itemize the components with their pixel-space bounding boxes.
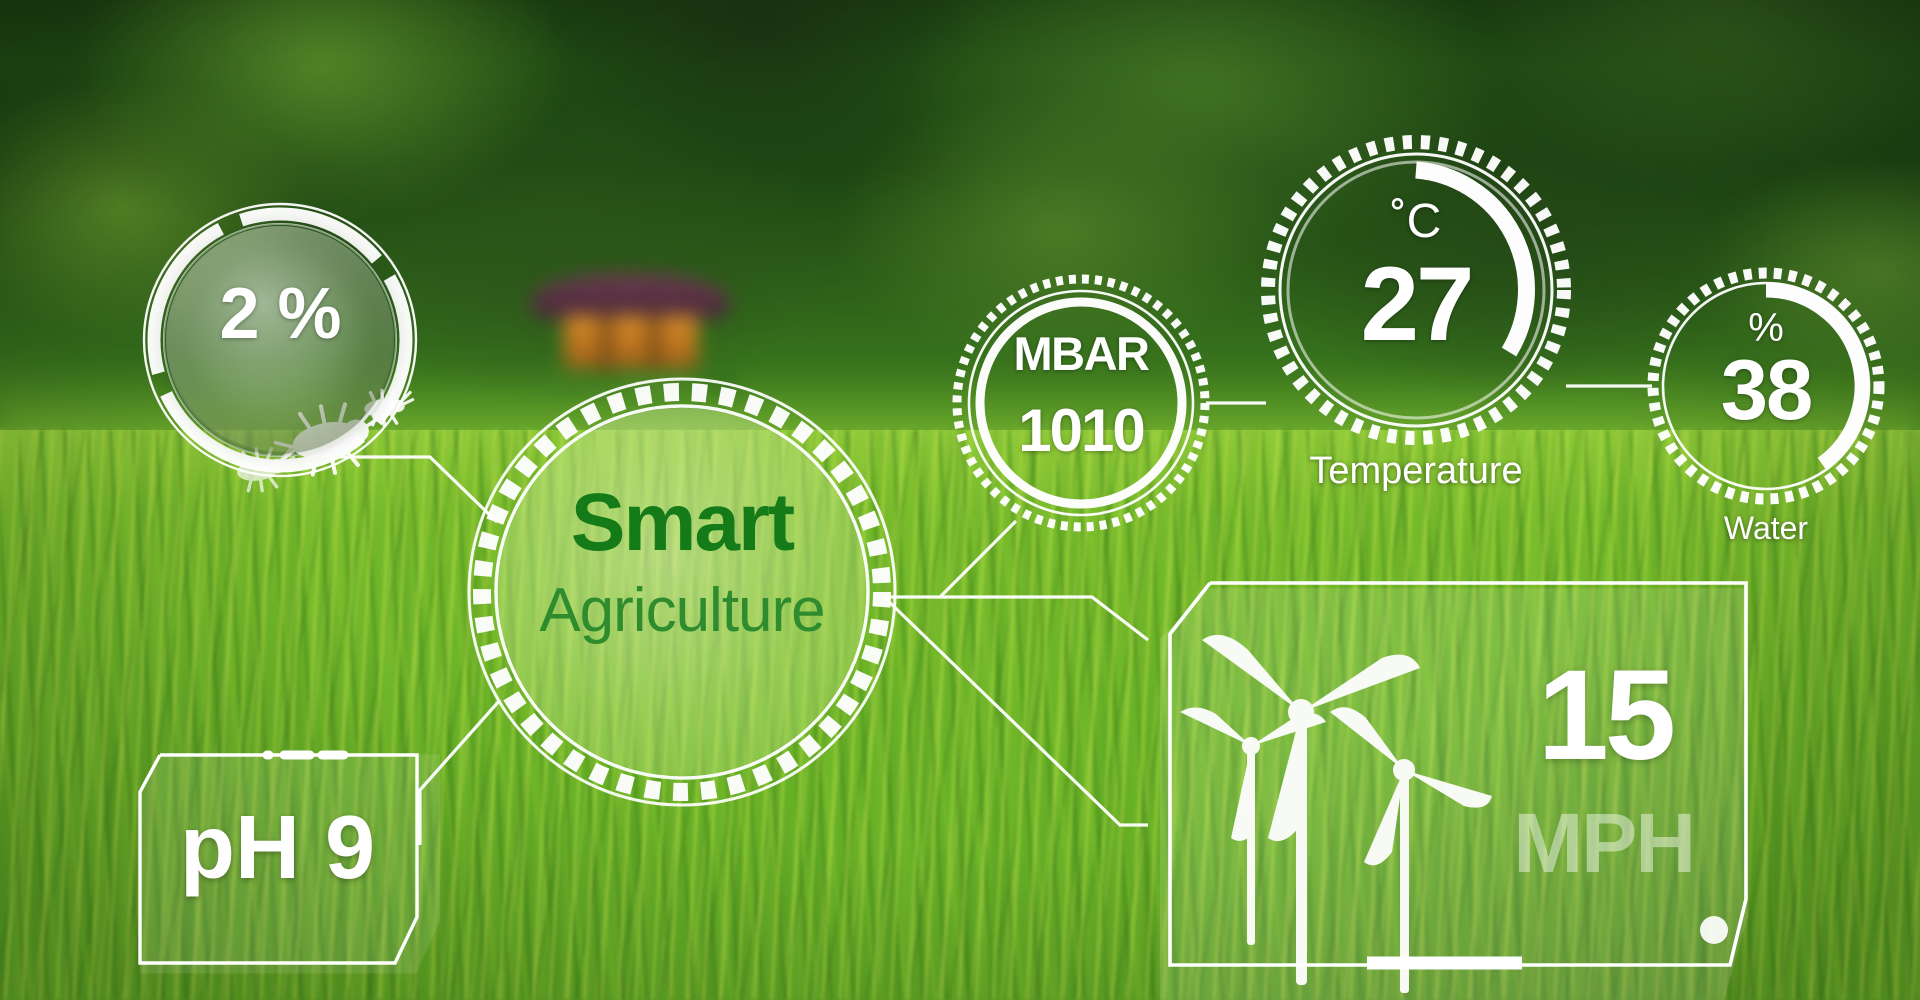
ph-panel-value: pH 9 (180, 803, 375, 893)
temperature-gauge-value: 27 (1266, 252, 1566, 357)
hub-title-primary: Smart (462, 482, 902, 564)
hud-overlay: 2 % MBAR 1010 ˚C 27 Temperature % 38 Wat… (0, 0, 1920, 1000)
pest-gauge[interactable]: 2 % (140, 200, 420, 480)
wind-panel-value: 15 (1538, 658, 1672, 773)
temperature-gauge[interactable]: ˚C 27 Temperature (1266, 140, 1566, 440)
ph-panel[interactable]: pH 9 (140, 745, 440, 983)
temperature-gauge-caption: Temperature (1246, 450, 1586, 493)
pressure-gauge[interactable]: MBAR 1010 (956, 278, 1206, 528)
pressure-gauge-value: 1010 (956, 401, 1206, 461)
screenshot-canvas: 2 % MBAR 1010 ˚C 27 Temperature % 38 Wat… (0, 0, 1920, 1000)
link-hub-to-pressure (884, 521, 1016, 597)
smart-agriculture-hub[interactable]: Smart Agriculture (462, 372, 902, 812)
temperature-gauge-unit: ˚C (1266, 198, 1566, 246)
water-gauge-unit: % (1652, 308, 1880, 348)
link-hub-to-wind-upper (940, 597, 1148, 640)
water-gauge-caption: Water (1632, 510, 1900, 547)
water-gauge[interactable]: % 38 Water (1652, 272, 1880, 500)
wind-panel[interactable]: 15 MPH (1148, 580, 1748, 1000)
link-hub-to-wind (884, 597, 1148, 825)
water-gauge-value: 38 (1652, 348, 1880, 433)
pest-gauge-value: 2 % (140, 278, 420, 350)
wind-panel-fill (1148, 580, 1748, 1000)
pressure-gauge-label: MBAR (956, 330, 1206, 377)
hub-title-secondary: Agriculture (462, 580, 902, 642)
wind-panel-unit: MPH (1513, 806, 1694, 882)
